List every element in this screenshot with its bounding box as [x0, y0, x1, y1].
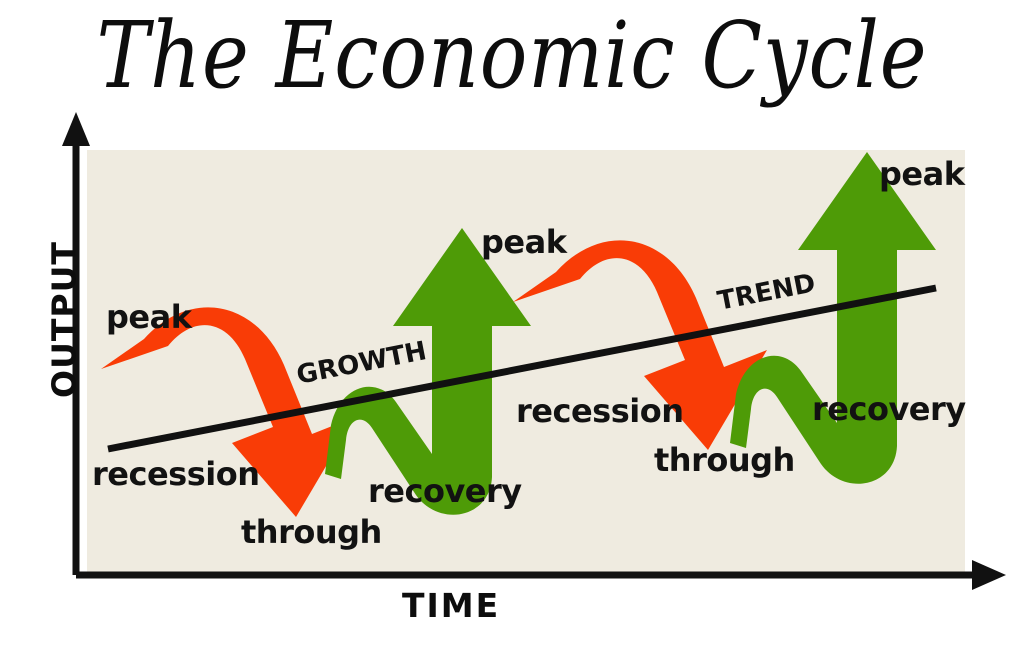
recession-label-1: recession: [92, 455, 259, 493]
peak-label-1: peak: [106, 298, 191, 336]
y-axis-label: OUTPUT: [45, 220, 84, 420]
x-axis-label: TIME: [402, 586, 500, 625]
economic-cycle-diagram: The Economic Cycle OUTPUT TIME GROWTH TR…: [0, 0, 1024, 661]
peak-label-3: peak: [879, 155, 964, 193]
peak-label-2: peak: [481, 223, 566, 261]
recession-label-2: recession: [516, 392, 683, 430]
recovery-label-1: recovery: [368, 472, 522, 510]
through-label-2: through: [654, 441, 795, 479]
recovery-label-2: recovery: [812, 390, 966, 428]
through-label-1: through: [241, 513, 382, 551]
